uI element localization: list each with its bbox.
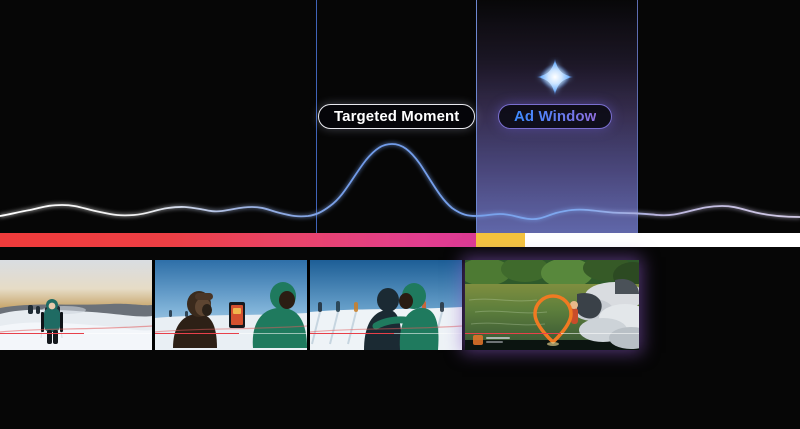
thumbnail-frame-ad[interactable] bbox=[465, 260, 639, 350]
thumbnail-image-3 bbox=[310, 260, 462, 350]
sparkle-icon bbox=[533, 57, 577, 97]
ad-badge-icon bbox=[473, 335, 483, 345]
label-ad-window-text: Ad Window bbox=[514, 108, 596, 125]
ad-badge bbox=[473, 335, 510, 345]
thumbnail-progress-played bbox=[0, 333, 84, 335]
timeline-segment-engagement[interactable] bbox=[0, 233, 476, 247]
thumbnail-progress-played bbox=[155, 333, 239, 335]
timeline-bar[interactable] bbox=[0, 233, 800, 247]
thumbnail-progress-played bbox=[465, 333, 561, 335]
thumbnail-image-2 bbox=[155, 260, 307, 350]
thumbnail-progress[interactable] bbox=[155, 333, 307, 335]
ad-window-timeline-stage: Targeted Moment Ad Window bbox=[0, 0, 800, 429]
thumbnail-progress[interactable] bbox=[0, 333, 152, 335]
timeline-segment-ad-slot[interactable] bbox=[476, 233, 525, 247]
thumbnail-progress-played bbox=[310, 333, 394, 335]
thumbnail-strip bbox=[0, 260, 642, 350]
thumbnail-progress[interactable] bbox=[465, 333, 639, 335]
thumbnail-image-1 bbox=[0, 260, 152, 350]
thumbnail-frame[interactable] bbox=[155, 260, 310, 350]
thumbnail-frame[interactable] bbox=[0, 260, 155, 350]
ad-badge-text bbox=[486, 337, 510, 343]
label-ad-window[interactable]: Ad Window bbox=[498, 104, 612, 129]
timeline-segment-remaining[interactable] bbox=[525, 233, 800, 247]
thumbnail-frame[interactable] bbox=[310, 260, 465, 350]
label-targeted-moment[interactable]: Targeted Moment bbox=[318, 104, 475, 129]
camera-phone bbox=[229, 302, 245, 328]
thumbnail-progress[interactable] bbox=[310, 333, 462, 335]
label-targeted-moment-text: Targeted Moment bbox=[334, 108, 459, 125]
engagement-waveform bbox=[0, 120, 800, 240]
